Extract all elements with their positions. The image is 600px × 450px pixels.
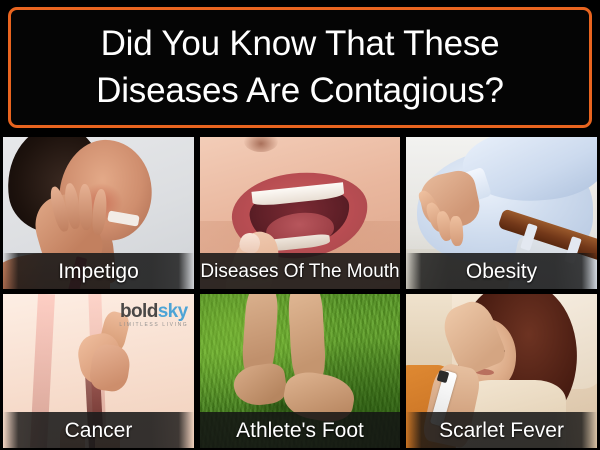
grid-cell-athletes-foot[interactable]: Athlete's Foot (197, 291, 403, 450)
caption-label-obesity: Obesity (466, 261, 537, 282)
caption-label-scarlet-fever: Scarlet Fever (439, 420, 564, 441)
photo-athletes-foot: Athlete's Foot (200, 294, 400, 448)
caption-label-impetigo: Impetigo (58, 261, 139, 282)
boldsky-watermark: boldsky LIMITLESS LIVING (119, 302, 188, 328)
photo-obesity: Obesity (406, 137, 597, 289)
watermark-brand: boldsky (119, 302, 188, 321)
header-title-line-1: Did You Know That These (101, 21, 500, 68)
photo-impetigo: Impetigo (3, 137, 194, 289)
header-title-line-2: Diseases Are Contagious? (96, 68, 504, 115)
photo-diseases-of-the-mouth: Diseases Of The Mouth (200, 137, 400, 289)
grid-cell-impetigo[interactable]: Impetigo (0, 134, 197, 291)
caption-label-cancer: Cancer (65, 420, 133, 441)
caption-label-athletes-foot: Athlete's Foot (236, 420, 364, 441)
nostril-shape (244, 137, 278, 152)
grid-cell-scarlet-fever[interactable]: Scarlet Fever (403, 291, 600, 450)
disease-grid: Impetigo Diseases Of The Mouth (0, 134, 600, 450)
watermark-brand-sky: sky (158, 301, 188, 322)
grid-cell-cancer[interactable]: boldsky LIMITLESS LIVING Cancer (0, 291, 197, 450)
caption-bar: Scarlet Fever (406, 412, 597, 448)
caption-bar: Impetigo (3, 253, 194, 289)
caption-bar: Cancer (3, 412, 194, 448)
header-banner: Did You Know That These Diseases Are Con… (0, 0, 600, 134)
header-box: Did You Know That These Diseases Are Con… (8, 7, 592, 128)
grid-cell-diseases-of-the-mouth[interactable]: Diseases Of The Mouth (197, 134, 403, 291)
photo-scarlet-fever: Scarlet Fever (406, 294, 597, 448)
caption-label-diseases-of-the-mouth: Diseases Of The Mouth (200, 262, 399, 281)
watermark-tagline: LIMITLESS LIVING (119, 323, 188, 328)
caption-bar: Obesity (406, 253, 597, 289)
photo-cancer: boldsky LIMITLESS LIVING Cancer (3, 294, 194, 448)
caption-bar: Athlete's Foot (200, 412, 400, 448)
grid-cell-obesity[interactable]: Obesity (403, 134, 600, 291)
caption-bar: Diseases Of The Mouth (200, 253, 400, 289)
watermark-brand-bold: bold (120, 301, 158, 322)
infographic-root: Did You Know That These Diseases Are Con… (0, 0, 600, 450)
